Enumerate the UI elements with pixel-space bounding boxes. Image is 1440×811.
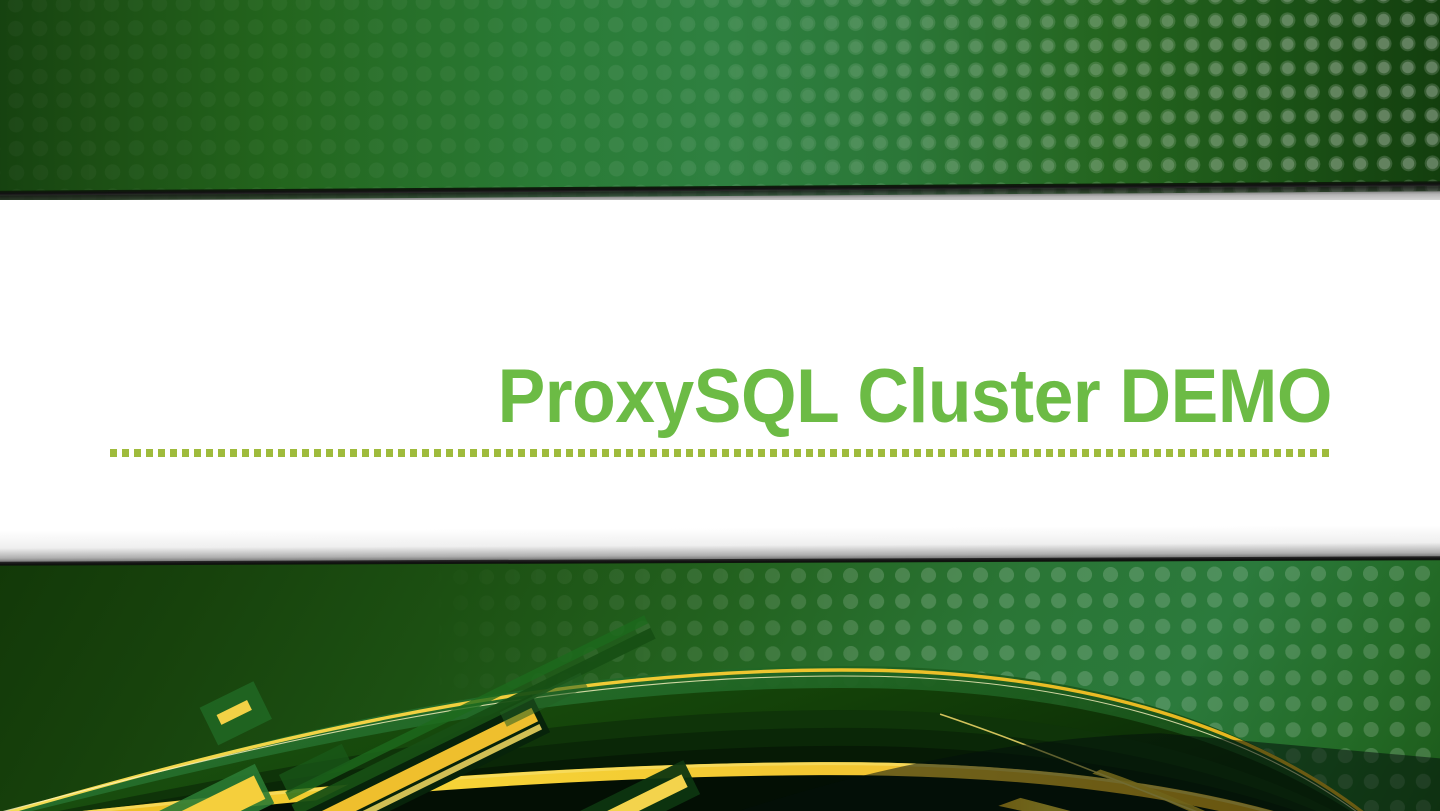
bottom-green-banner <box>0 560 1440 811</box>
page-title: ProxySQL Cluster DEMO <box>166 358 1332 436</box>
gold-swoosh-graphic <box>0 560 1440 811</box>
slide-canvas: ProxySQL Cluster DEMO <box>0 0 1440 811</box>
dotted-divider <box>110 449 1332 457</box>
halftone-dot-pattern-top-large <box>0 0 1440 201</box>
top-green-banner <box>0 0 1440 201</box>
title-area: ProxySQL Cluster DEMO <box>0 200 1440 550</box>
